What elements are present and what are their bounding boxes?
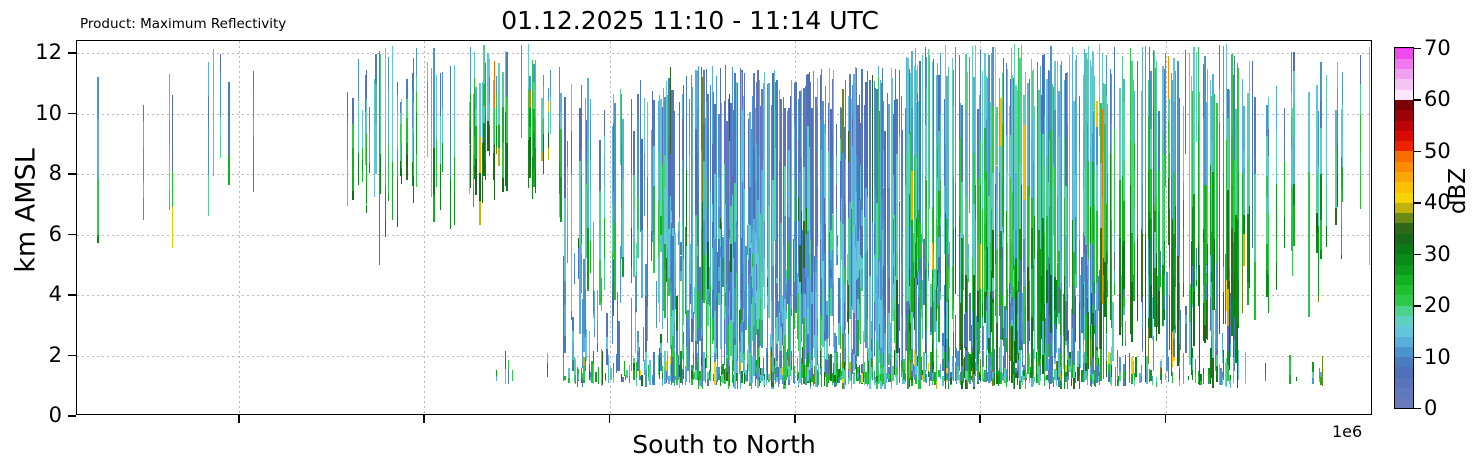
reflectivity-cell (498, 94, 499, 125)
reflectivity-cell (479, 137, 480, 172)
reflectivity-cell (586, 329, 587, 361)
reflectivity-cell (861, 383, 862, 384)
reflectivity-cell (810, 386, 811, 387)
reflectivity-cell (416, 76, 417, 91)
reflectivity-cell (836, 208, 837, 234)
reflectivity-cell (485, 63, 486, 115)
y-axis-label: km AMSL (11, 121, 42, 301)
reflectivity-cell (502, 72, 503, 107)
reflectivity-cell (689, 328, 690, 339)
reflectivity-cell (1308, 92, 1309, 172)
reflectivity-cell (1185, 50, 1186, 154)
reflectivity-cell (637, 117, 638, 162)
reflectivity-cell (772, 266, 773, 339)
reflectivity-cell (505, 369, 506, 380)
reflectivity-cell (811, 360, 812, 368)
reflectivity-cell (675, 233, 676, 261)
reflectivity-cell (949, 271, 950, 288)
reflectivity-cell (1137, 238, 1138, 322)
reflectivity-cell (768, 83, 769, 206)
reflectivity-cell (506, 97, 507, 143)
reflectivity-cell (995, 47, 996, 114)
reflectivity-cell (1021, 97, 1022, 185)
reflectivity-cell (599, 222, 600, 239)
reflectivity-cell (385, 75, 386, 120)
reflectivity-cell (433, 148, 434, 196)
reflectivity-cell (647, 177, 648, 226)
reflectivity-cell (1075, 382, 1076, 383)
reflectivity-cell (1293, 52, 1294, 71)
reflectivity-cell (955, 226, 956, 294)
reflectivity-cell (385, 120, 386, 166)
reflectivity-cell (633, 241, 634, 277)
reflectivity-cell (840, 279, 841, 298)
reflectivity-cell (1207, 69, 1208, 244)
reflectivity-cell (1268, 129, 1269, 156)
reflectivity-cell (717, 347, 718, 360)
reflectivity-cell (1185, 306, 1186, 315)
reflectivity-cell (896, 360, 897, 368)
reflectivity-cell (953, 297, 954, 310)
reflectivity-cell (470, 127, 471, 155)
reflectivity-cell (431, 132, 432, 197)
reflectivity-cell (587, 78, 588, 139)
reflectivity-cell (1125, 330, 1126, 339)
reflectivity-cell (347, 160, 348, 190)
reflectivity-cell (644, 98, 645, 155)
reflectivity-cell (741, 379, 742, 383)
reflectivity-cell (1342, 105, 1343, 167)
reflectivity-cell (833, 284, 834, 325)
reflectivity-cell (911, 171, 912, 220)
reflectivity-cell (1192, 358, 1193, 370)
reflectivity-cell (375, 84, 376, 123)
reflectivity-cell (1234, 364, 1235, 370)
reflectivity-cell (1034, 216, 1035, 265)
reflectivity-cell (1119, 357, 1120, 372)
reflectivity-cell (358, 59, 359, 102)
reflectivity-cell (385, 166, 386, 187)
reflectivity-cell (1183, 148, 1184, 182)
reflectivity-cell (454, 122, 455, 157)
reflectivity-cell (1192, 370, 1193, 380)
reflectivity-cell (1131, 374, 1132, 384)
reflectivity-cell (1291, 52, 1292, 92)
reflectivity-cell (837, 352, 838, 363)
reflectivity-cell (1134, 143, 1135, 170)
reflectivity-cell (911, 108, 912, 170)
reflectivity-cell (990, 334, 991, 348)
y-tick-label: 2 (49, 343, 62, 367)
reflectivity-cell (1034, 106, 1035, 216)
reflectivity-cell (1029, 79, 1030, 196)
x-tick-mark (794, 415, 796, 423)
reflectivity-cell (1067, 199, 1068, 227)
reflectivity-cell (1360, 84, 1361, 115)
reflectivity-cell (1156, 198, 1157, 253)
reflectivity-cell (375, 124, 376, 174)
reflectivity-cell (406, 118, 407, 143)
reflectivity-cell (1056, 381, 1057, 386)
reflectivity-field (77, 41, 1371, 414)
reflectivity-cell (817, 335, 818, 350)
reflectivity-cell (1183, 106, 1184, 148)
reflectivity-cell (1254, 262, 1255, 320)
reflectivity-cell (614, 223, 615, 300)
reflectivity-cell (253, 135, 254, 151)
reflectivity-cell (593, 351, 594, 364)
reflectivity-cell (992, 47, 993, 106)
reflectivity-cell (659, 372, 660, 379)
x-tick-mark (423, 415, 425, 423)
reflectivity-cell (581, 231, 582, 244)
reflectivity-cell (1061, 376, 1062, 382)
reflectivity-cell (454, 192, 455, 225)
colorbar-band (1395, 69, 1413, 80)
reflectivity-cell (560, 112, 561, 129)
reflectivity-cell (385, 48, 386, 75)
reflectivity-cell (693, 331, 694, 354)
reflectivity-cell (529, 91, 530, 107)
reflectivity-cell (986, 355, 987, 367)
reflectivity-cell (1222, 384, 1223, 385)
reflectivity-cell (1173, 339, 1174, 352)
reflectivity-cell (392, 46, 393, 107)
colorbar-band (1395, 171, 1413, 182)
reflectivity-cell (1195, 375, 1196, 383)
reflectivity-cell (794, 366, 795, 376)
colorbar-tick-mark (1414, 48, 1421, 49)
reflectivity-cell (475, 109, 476, 127)
reflectivity-cell (1158, 291, 1159, 334)
reflectivity-cell (1276, 262, 1277, 290)
y-tick-mark (68, 234, 76, 236)
reflectivity-cell (1238, 363, 1239, 380)
reflectivity-cell (401, 168, 402, 184)
reflectivity-cell (397, 149, 398, 179)
reflectivity-cell (942, 382, 943, 386)
reflectivity-cell (633, 175, 634, 209)
reflectivity-cell (776, 344, 777, 362)
reflectivity-cell (433, 86, 434, 147)
reflectivity-cell (1238, 172, 1239, 280)
x-axis-label: South to North (76, 430, 1372, 459)
reflectivity-cell (1219, 123, 1220, 183)
reflectivity-cell (1326, 116, 1327, 158)
reflectivity-cell (637, 197, 638, 230)
reflectivity-cell (1044, 166, 1045, 233)
reflectivity-cell (1080, 330, 1081, 353)
reflectivity-cell (590, 194, 591, 241)
reflectivity-cell (1061, 61, 1062, 259)
reflectivity-cell (589, 331, 590, 356)
reflectivity-cell (674, 111, 675, 192)
reflectivity-cell (1025, 72, 1026, 185)
reflectivity-cell (1216, 262, 1217, 363)
reflectivity-cell (996, 107, 997, 166)
reflectivity-cell (397, 179, 398, 206)
colorbar-tick-mark (1414, 254, 1421, 255)
reflectivity-cell (940, 115, 941, 180)
reflectivity-cell (564, 336, 565, 353)
reflectivity-cell (635, 313, 636, 353)
reflectivity-cell (636, 378, 637, 386)
reflectivity-cell (1249, 61, 1250, 207)
reflectivity-cell (1326, 158, 1327, 184)
reflectivity-cell (362, 148, 363, 159)
reflectivity-cell (689, 360, 690, 367)
reflectivity-cell (948, 67, 949, 150)
reflectivity-cell (436, 75, 437, 140)
reflectivity-cell (784, 381, 785, 385)
colorbar-band (1395, 254, 1413, 265)
reflectivity-cell (1075, 286, 1076, 295)
reflectivity-cell (761, 299, 762, 320)
reflectivity-cell (683, 353, 684, 360)
reflectivity-cell (645, 370, 646, 381)
reflectivity-cell (572, 317, 573, 330)
reflectivity-cell (1193, 194, 1194, 292)
reflectivity-cell (1265, 363, 1266, 374)
reflectivity-cell (1158, 111, 1159, 172)
reflectivity-cell (1229, 90, 1230, 266)
reflectivity-cell (433, 195, 434, 222)
reflectivity-cell (1003, 58, 1004, 233)
y-tick-label: 4 (49, 282, 62, 306)
colorbar-band (1395, 326, 1413, 337)
reflectivity-cell (479, 83, 480, 95)
reflectivity-cell (1153, 336, 1154, 370)
reflectivity-cell (1212, 310, 1213, 357)
colorbar-band (1395, 192, 1413, 203)
reflectivity-cell (599, 191, 600, 222)
reflectivity-cell (644, 154, 645, 215)
reflectivity-cell (1094, 294, 1095, 310)
reflectivity-cell (1134, 114, 1135, 144)
reflectivity-cell (861, 258, 862, 270)
reflectivity-cell (622, 257, 623, 277)
reflectivity-cell (1054, 233, 1055, 277)
reflectivity-cell (369, 107, 370, 130)
reflectivity-cell (1044, 116, 1045, 166)
reflectivity-cell (253, 152, 254, 192)
reflectivity-cell (1268, 97, 1269, 129)
reflectivity-cell (911, 377, 912, 382)
reflectivity-cell (817, 350, 818, 365)
reflectivity-cell (867, 303, 868, 319)
reflectivity-cell (397, 82, 398, 94)
reflectivity-cell (928, 262, 929, 276)
reflectivity-cell (1141, 376, 1142, 381)
reflectivity-cell (653, 100, 654, 123)
reflectivity-cell (691, 75, 692, 295)
reflectivity-cell (686, 246, 687, 311)
reflectivity-cell (1099, 383, 1100, 385)
reflectivity-cell (926, 330, 927, 345)
reflectivity-cell (496, 104, 497, 127)
reflectivity-cell (896, 99, 897, 154)
reflectivity-cell (861, 243, 862, 258)
reflectivity-cell (618, 321, 619, 370)
reflectivity-cell (761, 320, 762, 348)
reflectivity-cell (1245, 352, 1246, 377)
reflectivity-cell (1150, 169, 1151, 219)
reflectivity-cell (479, 96, 480, 118)
reflectivity-cell (375, 54, 376, 84)
reflectivity-cell (1021, 185, 1022, 268)
reflectivity-cell (801, 157, 802, 211)
reflectivity-cell (590, 120, 591, 159)
reflectivity-cell (474, 52, 475, 78)
reflectivity-cell (1067, 270, 1068, 296)
reflectivity-cell (574, 269, 575, 284)
reflectivity-cell (1160, 275, 1161, 287)
reflectivity-cell (535, 148, 536, 170)
reflectivity-cell (982, 209, 983, 303)
reflectivity-cell (512, 370, 513, 381)
colorbar (1394, 47, 1414, 409)
reflectivity-cell (581, 85, 582, 149)
reflectivity-cell (840, 298, 841, 327)
reflectivity-cell (475, 87, 476, 108)
reflectivity-cell (1021, 45, 1022, 97)
reflectivity-cell (1268, 213, 1269, 275)
reflectivity-cell (1125, 355, 1126, 386)
reflectivity-cell (1164, 274, 1165, 295)
reflectivity-cell (1203, 374, 1204, 385)
reflectivity-cell (406, 79, 407, 100)
reflectivity-cell (1337, 175, 1338, 207)
colorbar-band (1395, 151, 1413, 162)
reflectivity-cell (1276, 241, 1277, 262)
reflectivity-cell (637, 331, 638, 342)
reflectivity-cell (253, 71, 254, 91)
reflectivity-cell (994, 373, 995, 385)
reflectivity-cell (1335, 208, 1336, 224)
reflectivity-cell (1293, 184, 1294, 205)
reflectivity-cell (837, 236, 838, 245)
reflectivity-cell (1214, 94, 1215, 138)
reflectivity-cell (716, 76, 717, 246)
reflectivity-cell (1054, 61, 1055, 110)
reflectivity-cell (485, 164, 486, 180)
reflectivity-cell (968, 278, 969, 282)
reflectivity-cell (498, 63, 499, 94)
reflectivity-cell (1150, 71, 1151, 129)
reflectivity-cell (1054, 110, 1055, 168)
reflectivity-cell (352, 148, 353, 168)
reflectivity-cell (928, 363, 929, 371)
reflectivity-cell (861, 117, 862, 210)
reflectivity-cell (1320, 250, 1321, 259)
reflectivity-cell (1111, 74, 1112, 122)
reflectivity-cell (940, 53, 941, 115)
reflectivity-cell (764, 72, 765, 169)
reflectivity-cell (896, 367, 897, 375)
reflectivity-cell (568, 378, 569, 384)
reflectivity-cell (1000, 356, 1001, 372)
reflectivity-cell (613, 378, 614, 383)
reflectivity-cell (872, 359, 873, 367)
reflectivity-cell (784, 108, 785, 166)
reflectivity-cell (848, 334, 849, 357)
reflectivity-cell (1214, 239, 1215, 310)
reflectivity-cell (366, 205, 367, 214)
reflectivity-cell (631, 207, 632, 228)
reflectivity-cell (1119, 372, 1120, 381)
reflectivity-cell (543, 118, 544, 134)
reflectivity-cell (1123, 201, 1124, 241)
colorbar-band (1395, 202, 1413, 213)
reflectivity-cell (992, 291, 993, 299)
reflectivity-cell (917, 65, 918, 92)
reflectivity-cell (647, 255, 648, 307)
reflectivity-cell (940, 180, 941, 217)
reflectivity-cell (636, 308, 637, 312)
reflectivity-cell (1156, 61, 1157, 198)
reflectivity-cell (867, 250, 868, 280)
reflectivity-cell (1337, 143, 1338, 175)
reflectivity-cell (745, 246, 746, 330)
reflectivity-cell (427, 82, 428, 113)
reflectivity-cell (955, 183, 956, 226)
reflectivity-cell (598, 367, 599, 384)
reflectivity-cell (220, 136, 221, 158)
reflectivity-cell (1168, 357, 1169, 370)
reflectivity-cell (1289, 361, 1290, 375)
reflectivity-cell (1223, 350, 1224, 357)
colorbar-band (1395, 285, 1413, 296)
reflectivity-cell (475, 126, 476, 159)
reflectivity-cell (1195, 359, 1196, 368)
reflectivity-cell (388, 145, 389, 196)
reflectivity-cell (1308, 172, 1309, 317)
reflectivity-cell (454, 157, 455, 192)
reflectivity-cell (1289, 375, 1290, 384)
reflectivity-cell (662, 366, 663, 373)
colorbar-band (1395, 398, 1413, 409)
reflectivity-cell (784, 166, 785, 217)
reflectivity-cell (647, 102, 648, 143)
reflectivity-cell (143, 198, 144, 220)
reflectivity-cell (1249, 206, 1250, 288)
reflectivity-cell (496, 76, 497, 93)
reflectivity-cell (1173, 352, 1174, 357)
reflectivity-cell (817, 107, 818, 188)
reflectivity-cell (1025, 349, 1026, 365)
reflectivity-cell (599, 239, 600, 260)
reflectivity-cell (631, 228, 632, 266)
reflectivity-cell (845, 348, 846, 365)
colorbar-tick-mark (1414, 357, 1421, 358)
reflectivity-cell (1185, 315, 1186, 324)
colorbar-band (1395, 48, 1413, 59)
reflectivity-cell (1293, 205, 1294, 246)
reflectivity-cell (433, 48, 434, 86)
reflectivity-cell (888, 278, 889, 313)
reflectivity-cell (689, 99, 690, 155)
reflectivity-cell (1094, 121, 1095, 171)
reflectivity-cell (1175, 287, 1176, 325)
reflectivity-cell (1118, 382, 1119, 387)
reflectivity-cell (169, 74, 170, 100)
reflectivity-cell (1106, 361, 1107, 378)
reflectivity-cell (220, 54, 221, 73)
reflectivity-cell (590, 160, 591, 194)
reflectivity-cell (1129, 369, 1130, 383)
reflectivity-cell (169, 190, 170, 210)
y-tick-mark (68, 173, 76, 175)
